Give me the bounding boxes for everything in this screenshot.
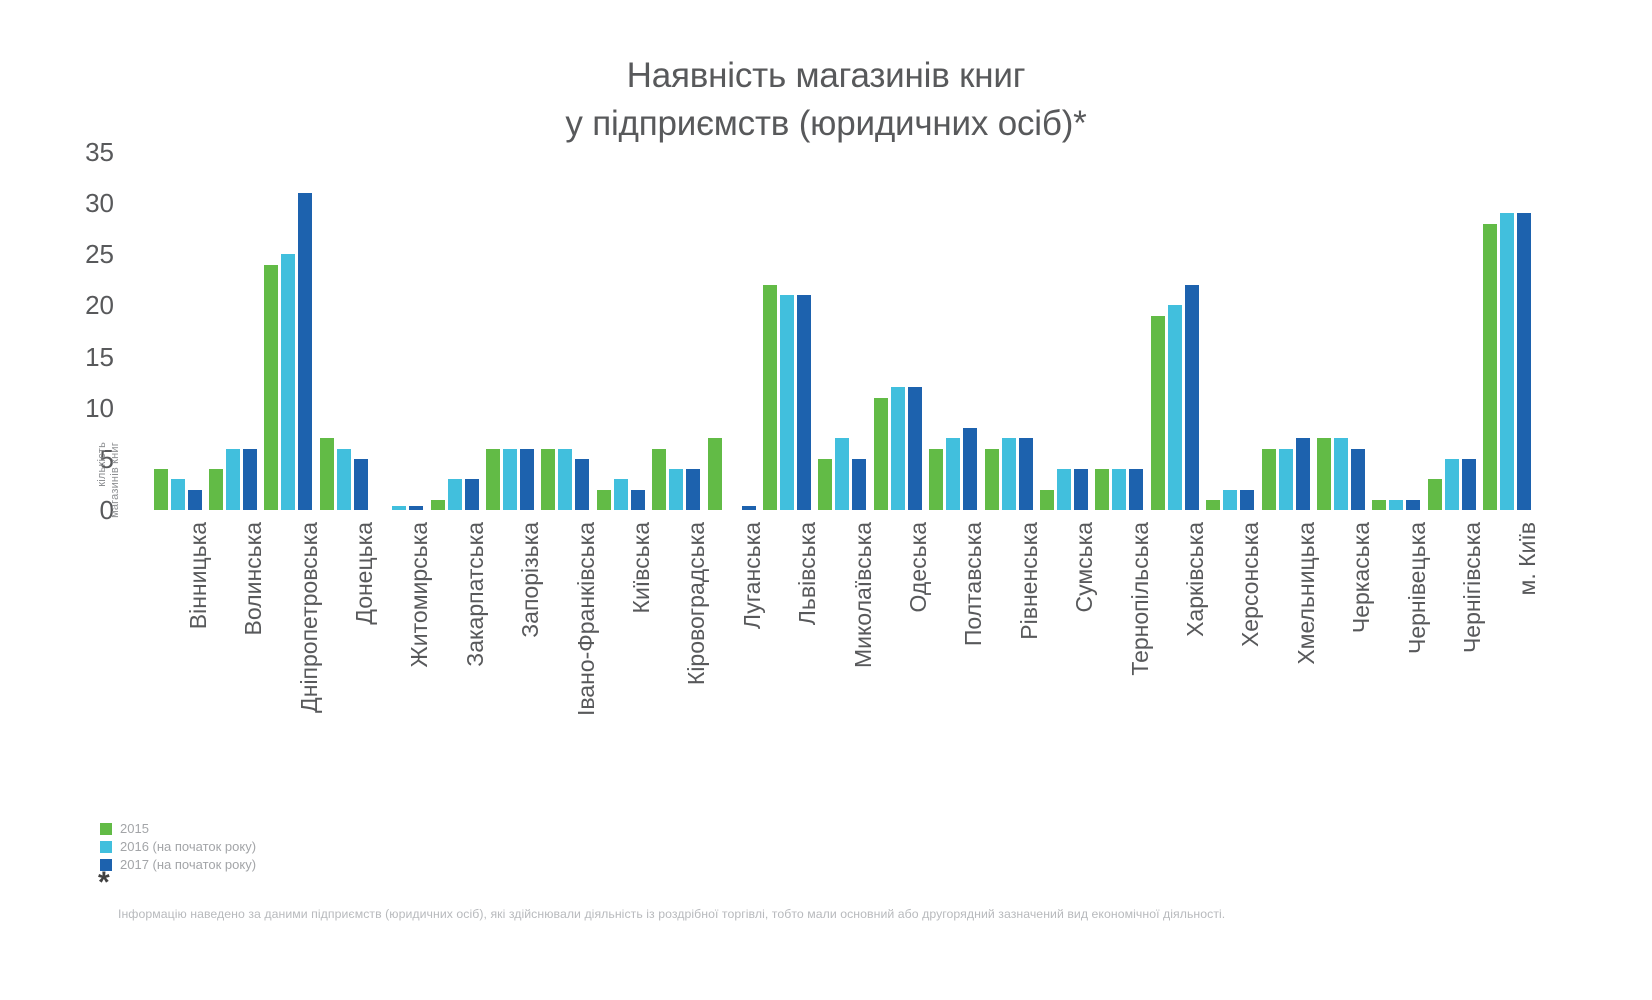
bar-2017 <box>797 295 811 510</box>
bar-group <box>261 152 316 510</box>
bar-group <box>926 152 981 510</box>
x-tick-label: Херсонська <box>1239 518 1262 818</box>
x-tick-label: Миколаївська <box>852 518 875 818</box>
bar-2017 <box>1517 213 1531 510</box>
bar-2017 <box>1019 438 1033 510</box>
bar-2016 <box>1057 469 1071 510</box>
bar-2015 <box>1372 500 1386 510</box>
y-tick-label: 10 <box>85 395 114 421</box>
bar-group <box>815 152 870 510</box>
bar-2017 <box>963 428 977 510</box>
bar-2017 <box>1185 285 1199 510</box>
bar-2016 <box>946 438 960 510</box>
bar-2016 <box>1279 449 1293 510</box>
bar-2017 <box>1462 459 1476 510</box>
bar-2017 <box>575 459 589 510</box>
bar-group <box>649 152 704 510</box>
bar-2016 <box>1168 305 1182 510</box>
bar-2015 <box>1262 449 1276 510</box>
x-tick-label: Чернігівська <box>1461 518 1484 818</box>
bar-2016 <box>171 479 185 510</box>
bar-2016 <box>448 479 462 510</box>
bar-group <box>427 152 482 510</box>
x-tick-label: Дніпропетровська <box>298 518 321 818</box>
bar-2017 <box>1240 490 1254 510</box>
bar-group <box>1313 152 1368 510</box>
y-tick-label: 35 <box>85 139 114 165</box>
bar-2015 <box>818 459 832 510</box>
bar-2016 <box>780 295 794 510</box>
bar-2016 <box>1223 490 1237 510</box>
bar-2015 <box>209 469 223 510</box>
bar-group <box>1203 152 1258 510</box>
bar-group <box>316 152 371 510</box>
bar-2015 <box>985 449 999 510</box>
x-tick-label: Івано-Франківська <box>575 518 598 818</box>
bar-2015 <box>1151 316 1165 510</box>
chart-page: Наявність магазинів книг у підприємств (… <box>0 0 1652 1000</box>
page-title: Наявність магазинів книг у підприємств (… <box>0 52 1652 148</box>
bar-2016 <box>1500 213 1514 510</box>
bar-2016 <box>226 449 240 510</box>
y-axis-caption: кількість магазинів книг <box>96 442 136 572</box>
footnote-marker: * <box>98 872 1556 894</box>
bar-2017 <box>465 479 479 510</box>
bar-group <box>704 152 759 510</box>
x-tick-label: Донецька <box>353 518 376 818</box>
bar-group <box>205 152 260 510</box>
x-tick-label: Запорізька <box>519 518 542 818</box>
bar-2016 <box>1002 438 1016 510</box>
plot-area <box>150 152 1535 510</box>
x-tick-label: Житомирська <box>408 518 431 818</box>
footnote: * Інформацію наведено за даними підприєм… <box>96 872 1556 922</box>
bar-group <box>1092 152 1147 510</box>
x-tick-label: Черкаська <box>1350 518 1373 818</box>
legend-label: 2015 <box>120 822 149 835</box>
x-tick-label: Київська <box>630 518 653 818</box>
x-tick-label: Полтавська <box>962 518 985 818</box>
bar-2015 <box>1040 490 1054 510</box>
bar-group <box>593 152 648 510</box>
legend-label: 2016 (на початок року) <box>120 840 256 853</box>
bar-2016 <box>1112 469 1126 510</box>
bar-2015 <box>431 500 445 510</box>
legend-item[interactable]: 2015 <box>100 820 500 837</box>
bar-2015 <box>486 449 500 510</box>
bar-group <box>759 152 814 510</box>
x-tick-label: Закарпатська <box>464 518 487 818</box>
bar-2016 <box>614 479 628 510</box>
x-tick-label: Рівненська <box>1018 518 1041 818</box>
bar-2015 <box>541 449 555 510</box>
bar-group <box>1424 152 1479 510</box>
bar-2016 <box>1334 438 1348 510</box>
legend-swatch-icon <box>100 841 112 853</box>
x-tick-label: Одеська <box>907 518 930 818</box>
bar-2017 <box>908 387 922 510</box>
legend-item[interactable]: 2017 (на початок року) <box>100 856 500 873</box>
title-line-1: Наявність магазинів книг <box>0 52 1652 100</box>
bar-2015 <box>264 265 278 510</box>
bar-group <box>372 152 427 510</box>
bar-2015 <box>1483 224 1497 510</box>
bar-2015 <box>1428 479 1442 510</box>
legend-swatch-icon <box>100 823 112 835</box>
bar-group <box>870 152 925 510</box>
bar-group <box>482 152 537 510</box>
bar-2017 <box>1074 469 1088 510</box>
bar-2017 <box>852 459 866 510</box>
x-tick-label: Львівська <box>796 518 819 818</box>
bar-2017 <box>188 490 202 510</box>
bar-2016 <box>337 449 351 510</box>
x-tick-label: Кіровоградська <box>685 518 708 818</box>
bar-2015 <box>320 438 334 510</box>
bar-2017 <box>1129 469 1143 510</box>
bar-2016 <box>1445 459 1459 510</box>
x-tick-label: Хмельницька <box>1295 518 1318 818</box>
bar-2015 <box>652 449 666 510</box>
bar-group <box>538 152 593 510</box>
footnote-text: Інформацію наведено за даними підприємст… <box>118 906 1556 922</box>
bar-2015 <box>1317 438 1331 510</box>
bar-group <box>981 152 1036 510</box>
bar-2017 <box>1406 500 1420 510</box>
y-tick-label: 20 <box>85 292 114 318</box>
bar-2016 <box>1389 500 1403 510</box>
bar-2015 <box>154 469 168 510</box>
bar-group <box>1147 152 1202 510</box>
bar-2017 <box>1296 438 1310 510</box>
bar-2015 <box>874 398 888 511</box>
y-tick-label: 30 <box>85 190 114 216</box>
bar-2016 <box>835 438 849 510</box>
bar-2017 <box>631 490 645 510</box>
legend-label: 2017 (на початок року) <box>120 858 256 871</box>
x-axis-labels: ВінницькаВолинськаДніпропетровськаДонець… <box>150 518 1535 808</box>
x-tick-label: Тернопільська <box>1129 518 1152 818</box>
bar-group <box>1258 152 1313 510</box>
bar-2017 <box>298 193 312 510</box>
y-axis-caption-line-1: кількість <box>96 442 109 572</box>
bar-2016 <box>669 469 683 510</box>
bar-2017 <box>1351 449 1365 510</box>
bar-2016 <box>503 449 517 510</box>
legend: 20152016 (на початок року)2017 (на почат… <box>100 820 500 874</box>
x-tick-label: Сумська <box>1073 518 1096 818</box>
bar-2016 <box>891 387 905 510</box>
x-axis-baseline <box>150 510 1535 513</box>
bar-2015 <box>708 438 722 510</box>
bar-2016 <box>281 254 295 510</box>
bar-2017 <box>243 449 257 510</box>
bar-2015 <box>763 285 777 510</box>
bar-2015 <box>597 490 611 510</box>
title-line-2: у підприємств (юридичних осіб)* <box>0 100 1652 148</box>
bar-group <box>1036 152 1091 510</box>
bar-2015 <box>929 449 943 510</box>
bar-2017 <box>686 469 700 510</box>
y-tick-label: 25 <box>85 241 114 267</box>
y-axis-caption-line-2: магазинів книг <box>109 442 122 572</box>
x-tick-label: Волинська <box>242 518 265 818</box>
x-tick-label: Вінницька <box>187 518 210 818</box>
x-tick-label: м. Київ <box>1516 518 1539 818</box>
bar-group <box>150 152 205 510</box>
bar-2017 <box>354 459 368 510</box>
bar-group <box>1369 152 1424 510</box>
bar-group <box>1480 152 1535 510</box>
x-tick-label: Луганська <box>741 518 764 818</box>
x-tick-label: Харківська <box>1184 518 1207 818</box>
bar-2015 <box>1095 469 1109 510</box>
x-tick-label: Чернівецька <box>1406 518 1429 818</box>
y-tick-label: 15 <box>85 344 114 370</box>
bar-2016 <box>558 449 572 510</box>
legend-item[interactable]: 2016 (на початок року) <box>100 838 500 855</box>
bar-2015 <box>1206 500 1220 510</box>
bar-2017 <box>520 449 534 510</box>
